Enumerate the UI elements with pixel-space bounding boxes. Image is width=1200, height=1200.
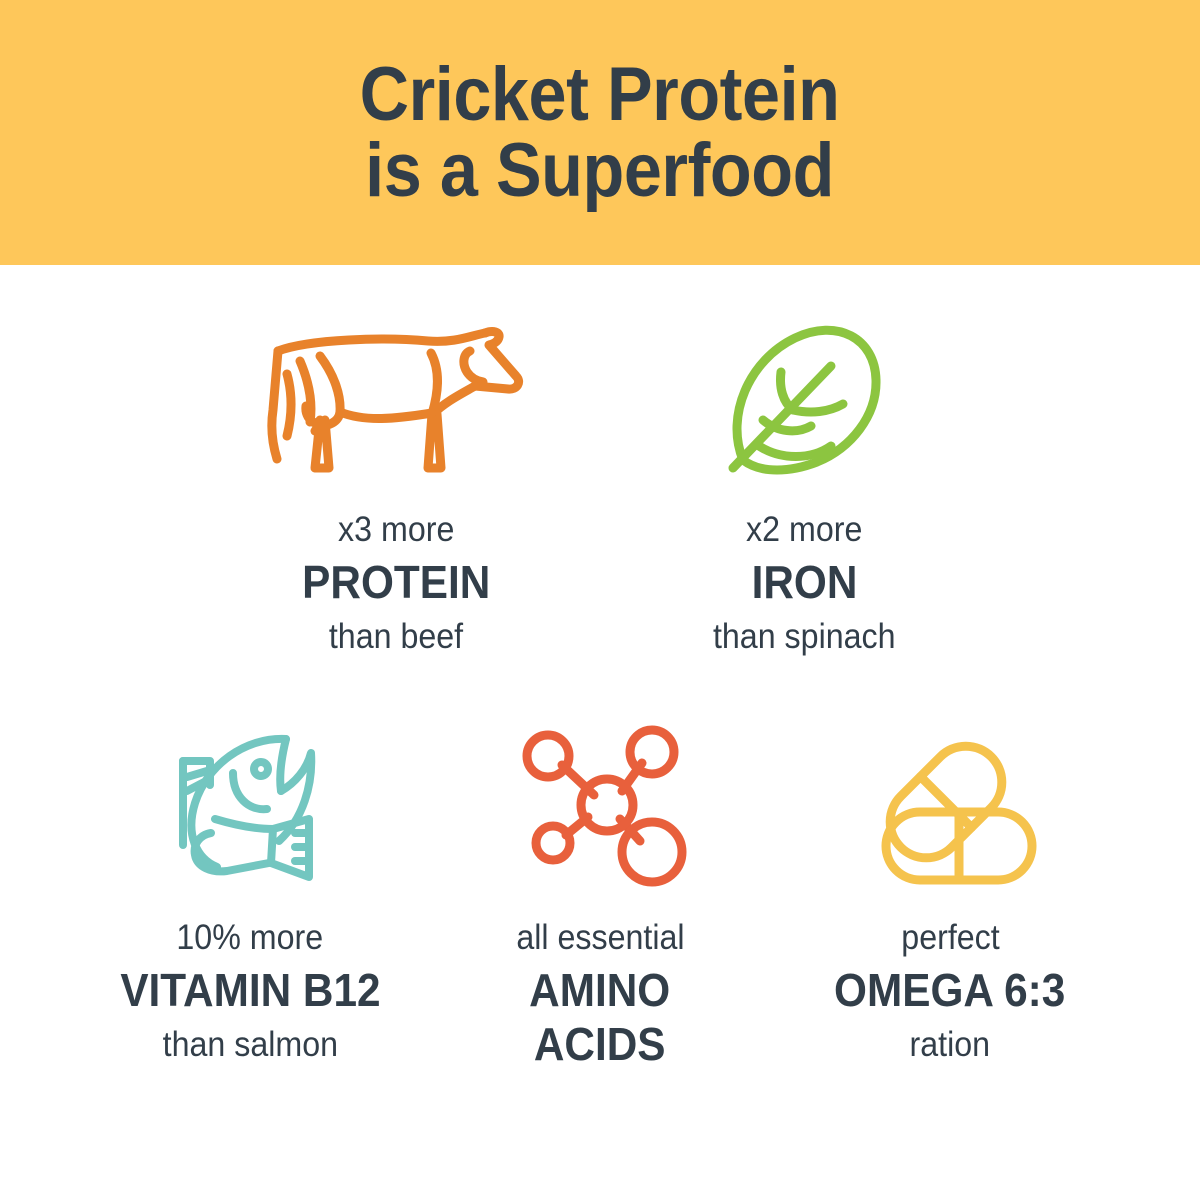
stat-pre-label: 10% more	[177, 917, 324, 958]
capsule-icon	[775, 715, 1125, 895]
stat-pre-label: perfect	[901, 917, 999, 958]
page-title: Cricket Protein is a Superfood	[360, 57, 840, 207]
stat-card-iron: x2 more IRON than spinach	[600, 305, 1008, 657]
stat-main-label: IRON	[751, 556, 857, 609]
stat-post-label: than salmon	[162, 1024, 337, 1065]
leaf-icon	[600, 305, 1008, 495]
stat-pre-label: x2 more	[746, 509, 862, 550]
cow-icon	[192, 305, 600, 495]
stats-row-top: x3 more PROTEIN than beef	[0, 265, 1200, 705]
fish-icon	[75, 715, 425, 895]
stats-row-bottom: 10% more VITAMIN B12 than salmon	[0, 705, 1200, 1175]
stat-pre-label: x3 more	[338, 509, 454, 550]
stat-main-label: AMINO ACIDS	[529, 964, 670, 1071]
molecule-icon	[425, 715, 775, 895]
stat-card-protein: x3 more PROTEIN than beef	[192, 305, 600, 657]
stat-post-label: than spinach	[713, 616, 896, 657]
stats-grid: x3 more PROTEIN than beef	[0, 265, 1200, 1200]
stat-main-label: PROTEIN	[302, 556, 490, 609]
stat-pre-label: all essential	[516, 917, 684, 958]
stat-card-amino-acids: all essential AMINO ACIDS	[425, 715, 775, 1071]
stat-main-label: VITAMIN B12	[120, 964, 380, 1017]
stat-main-label: OMEGA 6:3	[834, 964, 1065, 1017]
stat-post-label: ration	[910, 1024, 991, 1065]
infographic-poster: Cricket Protein is a Superfood	[0, 0, 1200, 1200]
header-band: Cricket Protein is a Superfood	[0, 0, 1200, 265]
stat-card-omega: perfect OMEGA 6:3 ration	[775, 715, 1125, 1065]
stat-post-label: than beef	[329, 616, 463, 657]
stat-card-vitamin-b12: 10% more VITAMIN B12 than salmon	[75, 715, 425, 1065]
